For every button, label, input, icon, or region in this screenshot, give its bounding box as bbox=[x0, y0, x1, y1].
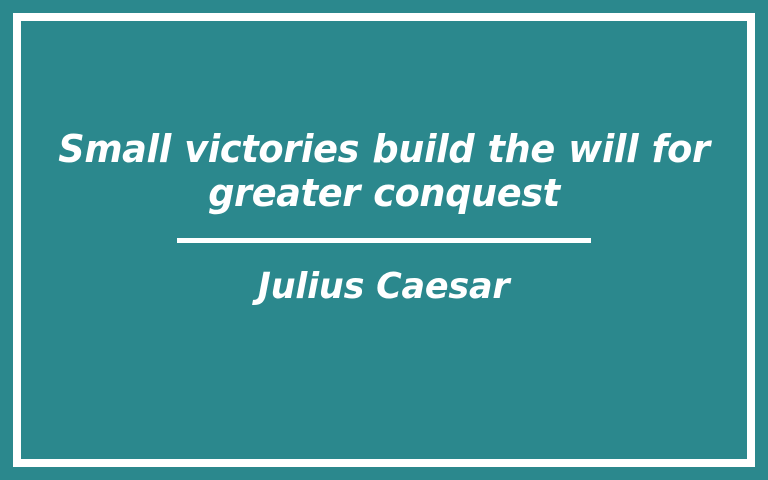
card-frame-border: Small victories build the will for great… bbox=[13, 13, 755, 467]
divider-rule bbox=[177, 238, 591, 243]
quote-text: Small victories build the will for great… bbox=[58, 127, 710, 215]
card-inner-area: Small victories build the will for great… bbox=[21, 21, 747, 459]
quote-content-block: Small victories build the will for great… bbox=[21, 127, 747, 309]
quote-card: Small victories build the will for great… bbox=[0, 0, 768, 480]
author-name: Julius Caesar bbox=[258, 265, 510, 309]
